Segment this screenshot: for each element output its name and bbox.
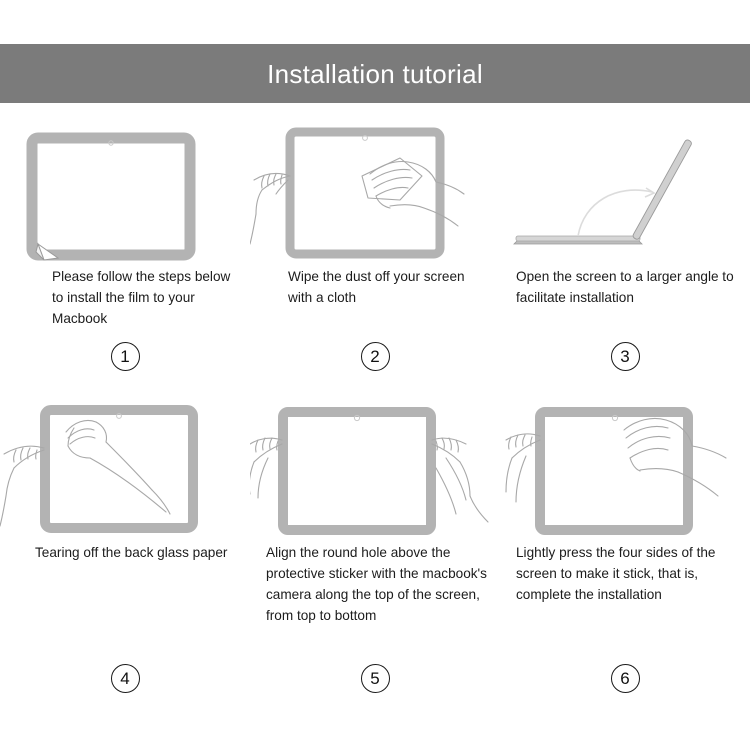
illustration-wipe-screen-with-cloth xyxy=(250,118,500,266)
step-caption-5: Align the round hole above the protectiv… xyxy=(250,542,500,654)
step-caption-3: Open the screen to a larger angle to fac… xyxy=(500,266,750,332)
step-card-2: Wipe the dust off your screen with a clo… xyxy=(250,118,500,394)
illustration-tear-backing-paper xyxy=(0,394,250,542)
step-number-badge-5: 5 xyxy=(361,664,390,693)
step-number-wrap-1: 1 xyxy=(0,332,250,394)
step-caption-6: Lightly press the four sides of the scre… xyxy=(500,542,750,654)
installation-tutorial-page: Installation tutorial Please xyxy=(0,0,750,750)
step-number-wrap-6: 6 xyxy=(500,654,750,716)
step-number-badge-4: 4 xyxy=(111,664,140,693)
steps-grid: Please follow the steps below to install… xyxy=(0,118,750,716)
step-number-badge-1: 1 xyxy=(111,342,140,371)
illustration-align-film-two-hands xyxy=(250,394,500,542)
step-number-badge-2: 2 xyxy=(361,342,390,371)
step-number-wrap-3: 3 xyxy=(500,332,750,394)
step-caption-2: Wipe the dust off your screen with a clo… xyxy=(250,266,500,332)
illustration-screen-with-peeling-film xyxy=(0,118,250,266)
step-card-6: Lightly press the four sides of the scre… xyxy=(500,394,750,716)
step-number-wrap-4: 4 xyxy=(0,654,250,716)
step-card-4: Tearing off the back glass paper 4 xyxy=(0,394,250,716)
step-card-1: Please follow the steps below to install… xyxy=(0,118,250,394)
step-card-5: Align the round hole above the protectiv… xyxy=(250,394,500,716)
step-number-badge-3: 3 xyxy=(611,342,640,371)
header-banner: Installation tutorial xyxy=(0,44,750,103)
page-title: Installation tutorial xyxy=(267,61,483,87)
steps-row-bottom: Tearing off the back glass paper 4 xyxy=(0,394,750,716)
illustration-open-laptop-lid xyxy=(500,118,750,266)
illustration-press-screen-flat xyxy=(500,394,750,542)
step-caption-1: Please follow the steps below to install… xyxy=(0,266,250,332)
step-card-3: Open the screen to a larger angle to fac… xyxy=(500,118,750,394)
step-number-wrap-5: 5 xyxy=(250,654,500,716)
step-number-badge-6: 6 xyxy=(611,664,640,693)
step-number-wrap-2: 2 xyxy=(250,332,500,394)
steps-row-top: Please follow the steps below to install… xyxy=(0,118,750,394)
step-caption-4: Tearing off the back glass paper xyxy=(0,542,250,654)
